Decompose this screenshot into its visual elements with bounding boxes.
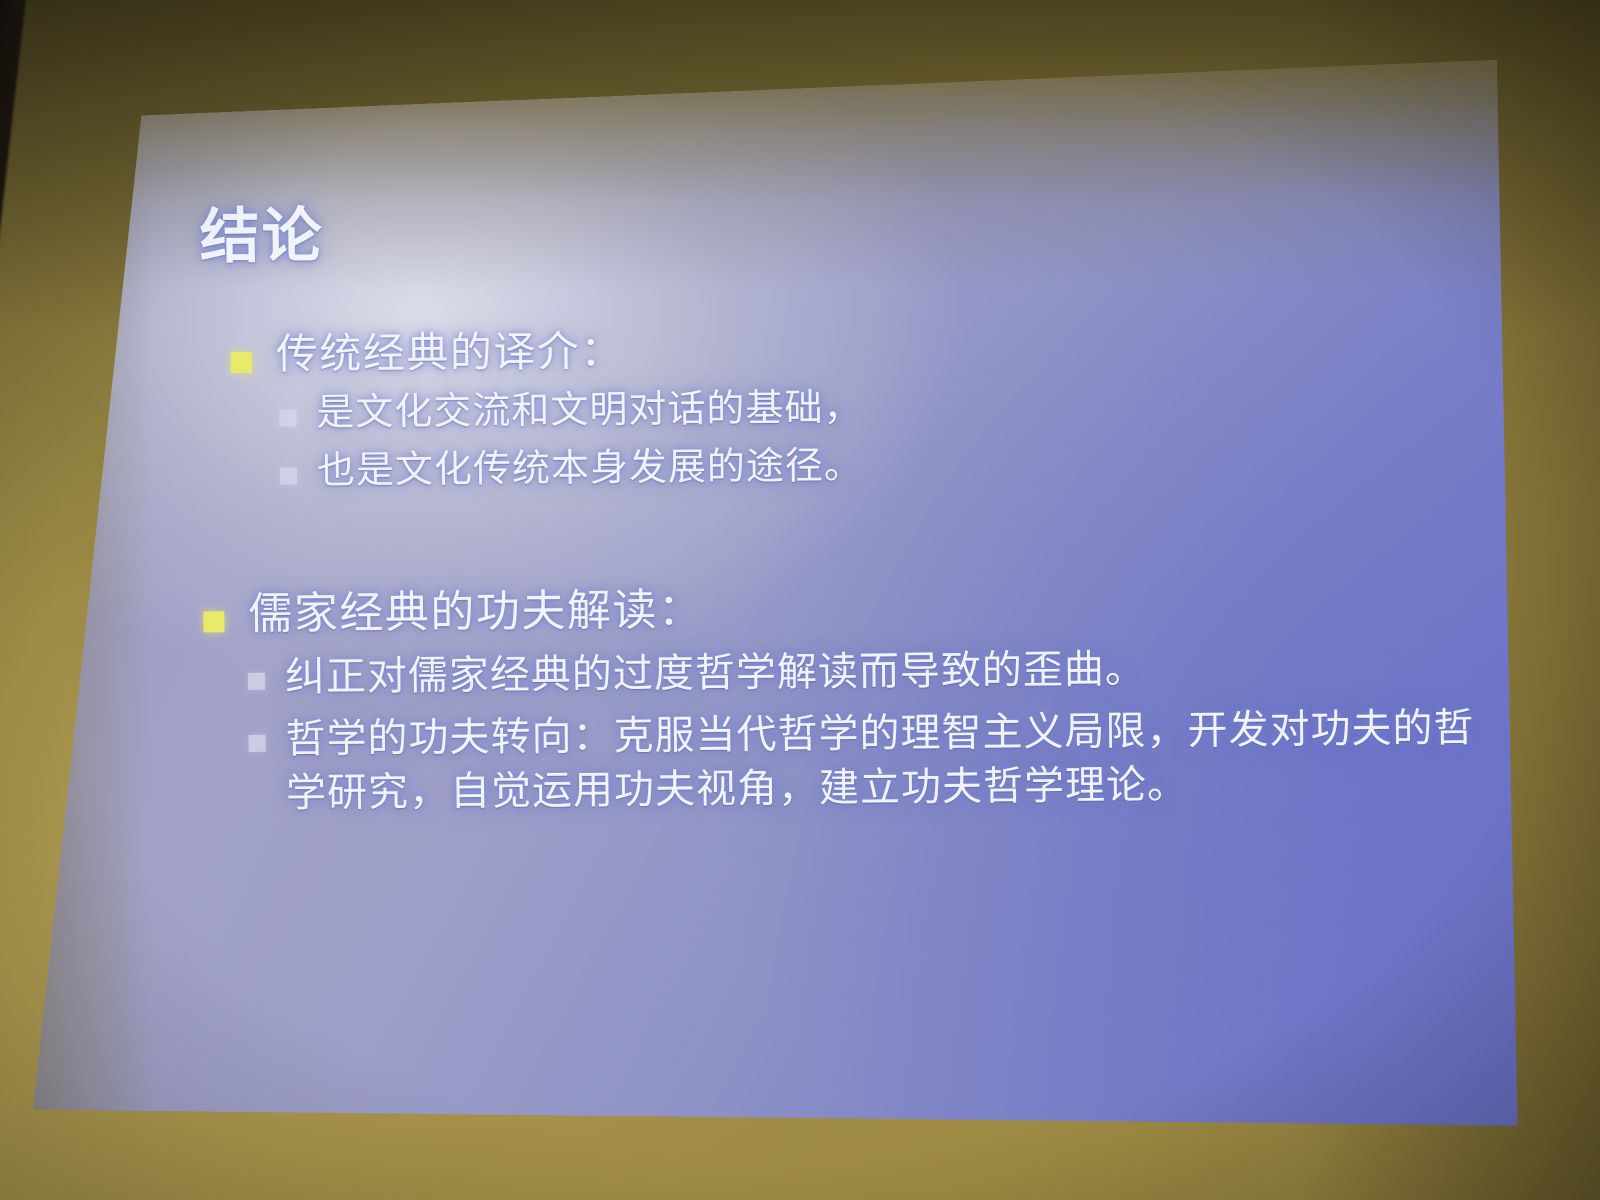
sub-bullet-1-1: 是文化交流和文明对话的基础， (279, 376, 1491, 438)
square-bullet-icon (203, 611, 224, 632)
bullet-group-2: 儒家经典的功夫解读： 纠正对儒家经典的过度哲学解读而导致的歪曲。 哲学的功夫转向… (203, 577, 1495, 822)
slide-content: 结论 传统经典的译介： 是文化交流和文明对话的基础， 也是文化传统本身发展的途径… (33, 46, 1529, 1130)
bullet-group-2-sublist: 纠正对儒家经典的过度哲学解读而导致的歪曲。 哲学的功夫转向：克服当代哲学的理智主… (248, 639, 1496, 822)
sub-bullet-2-2: 哲学的功夫转向：克服当代哲学的理智主义局限，开发对功夫的哲学研究，自觉运用功夫视… (248, 701, 1495, 822)
sub-bullet-1-2: 也是文化传统本身发展的途径。 (280, 434, 1492, 496)
square-bullet-icon (231, 352, 252, 373)
projector-photo: 结论 传统经典的译介： 是文化交流和文明对话的基础， 也是文化传统本身发展的途径… (0, 0, 1600, 1200)
slide-bullet-list: 传统经典的译介： 是文化交流和文明对话的基础， 也是文化传统本身发展的途径。 (231, 318, 1496, 822)
bullet-heading-1: 传统经典的译介： (231, 318, 1491, 380)
sub-bullet-2-2-label: 哲学的功夫转向：克服当代哲学的理智主义局限，开发对功夫的哲学研究，自觉运用功夫视… (285, 701, 1495, 821)
sub-bullet-1-2-label: 也是文化传统本身发展的途径。 (317, 434, 1492, 496)
bullet-group-1-sublist: 是文化交流和文明对话的基础， 也是文化传统本身发展的途径。 (279, 376, 1492, 497)
sub-bullet-1-1-label: 是文化交流和文明对话的基础， (316, 376, 1491, 438)
bullet-heading-2: 儒家经典的功夫解读： (203, 577, 1493, 641)
sub-bullet-2-1: 纠正对儒家经典的过度哲学解读而导致的歪曲。 (248, 639, 1494, 705)
sub-bullet-2-1-label: 纠正对儒家经典的过度哲学解读而导致的歪曲。 (285, 639, 1494, 705)
small-square-bullet-icon (248, 672, 265, 689)
small-square-bullet-icon (248, 735, 265, 752)
bullet-heading-1-label: 传统经典的译介： (276, 326, 624, 379)
small-square-bullet-icon (279, 409, 296, 426)
small-square-bullet-icon (280, 468, 297, 485)
bullet-group-1: 传统经典的译介： 是文化交流和文明对话的基础， 也是文化传统本身发展的途径。 (231, 318, 1493, 497)
bullet-heading-2-label: 儒家经典的功夫解读： (248, 584, 703, 640)
slide-title: 结论 (199, 205, 324, 269)
